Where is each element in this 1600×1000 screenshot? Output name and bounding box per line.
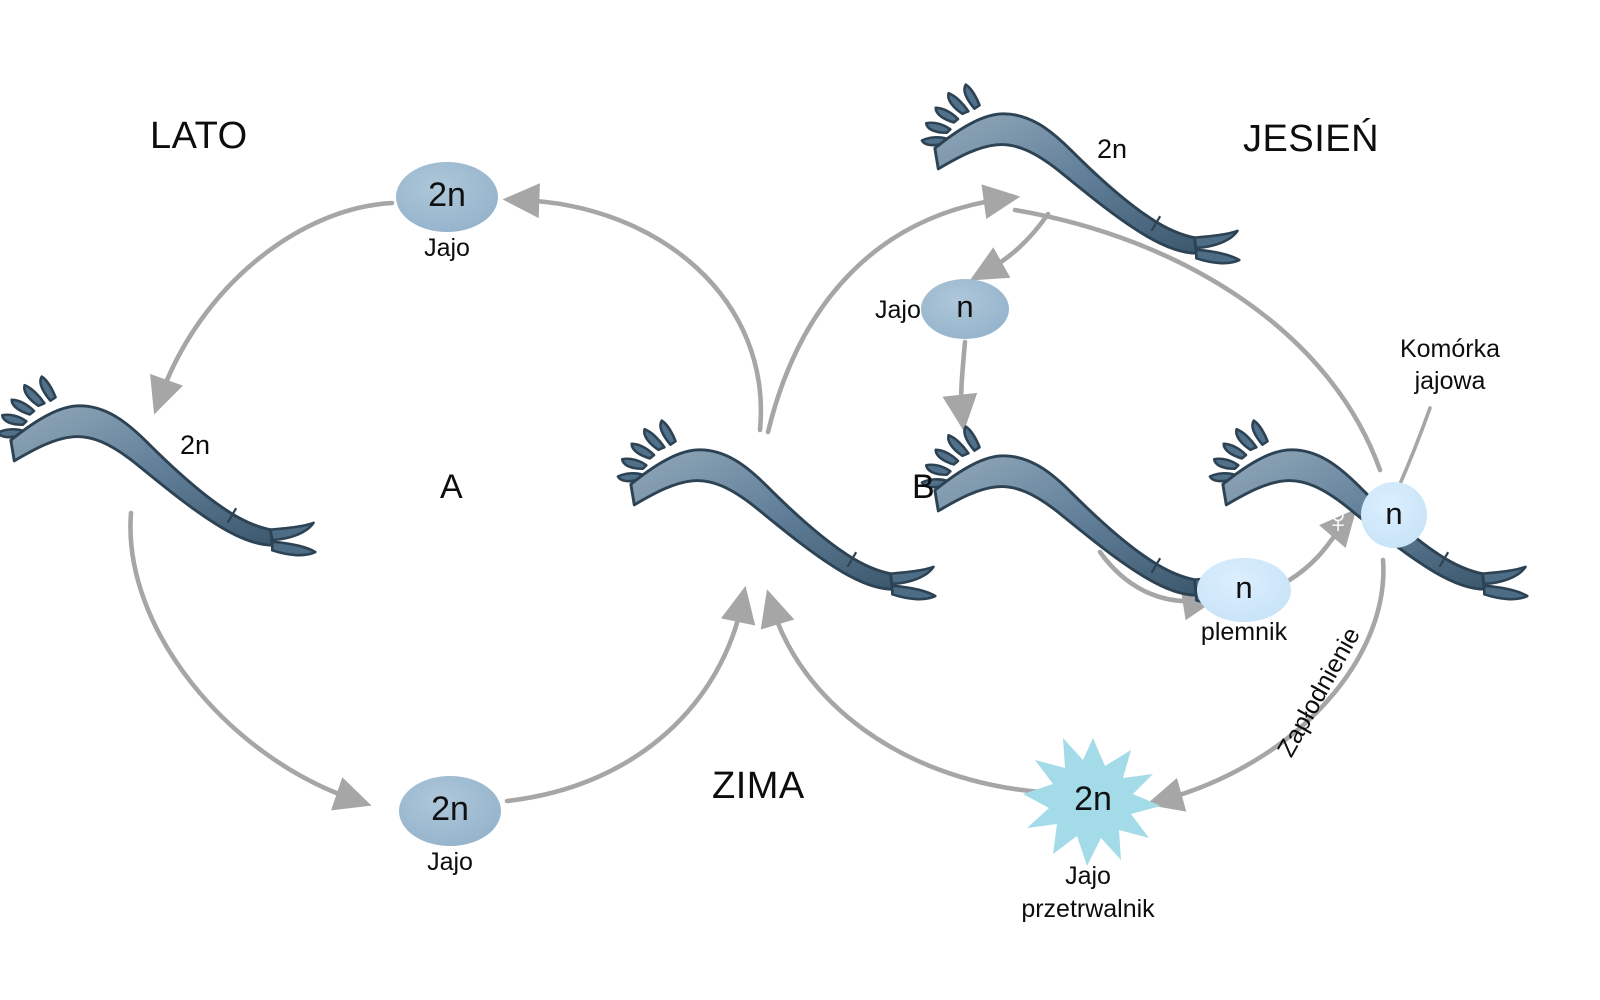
resting-egg-caption-line2: przetrwalnik bbox=[1021, 895, 1154, 923]
ovum-caption-line2: jajowa bbox=[1415, 367, 1486, 395]
season-label-autumn: JESIEŃ bbox=[1243, 118, 1379, 161]
female-symbol-center: ♀ bbox=[731, 497, 761, 541]
egg-bottom-left-ploidy: 2n bbox=[431, 790, 469, 828]
organism-female-center: ♀ bbox=[618, 421, 935, 600]
female-symbol-left: ♀ bbox=[111, 453, 141, 497]
female-symbol-right: ♀ bbox=[1323, 497, 1353, 541]
organism-female-top-right: ♀ bbox=[922, 85, 1239, 264]
organism-male-right: ♂ bbox=[922, 427, 1239, 606]
egg-haploid-ploidy: n bbox=[956, 290, 973, 325]
egg-haploid-caption: Jajo bbox=[875, 296, 921, 324]
ovum-caption-line1: Komórka bbox=[1400, 335, 1500, 363]
resting-egg-ploidy: 2n bbox=[1074, 780, 1112, 818]
resting-egg-caption-line1: Jajo bbox=[1065, 862, 1111, 890]
female-symbol-top-right: ♀ bbox=[1035, 161, 1065, 205]
season-label-summer: LATO bbox=[150, 115, 248, 158]
female-left-ploidy: 2n bbox=[180, 430, 210, 460]
life-cycle-diagram: ♀ ♀ ♀ ♂ ♀ bbox=[0, 0, 1600, 1000]
egg-top-left-ploidy: 2n bbox=[428, 176, 466, 214]
organism-female-left: ♀ bbox=[0, 377, 315, 556]
male-symbol-right: ♂ bbox=[1037, 503, 1067, 547]
season-label-winter: ZIMA bbox=[712, 765, 805, 808]
sperm-ploidy: n bbox=[1235, 571, 1252, 606]
egg-top-left-caption: Jajo bbox=[424, 234, 470, 262]
female-top-right-ploidy: 2n bbox=[1097, 134, 1127, 164]
ovum-ploidy: n bbox=[1385, 497, 1402, 532]
cycle-label-a: A bbox=[440, 468, 463, 506]
egg-bottom-left-caption: Jajo bbox=[427, 848, 473, 876]
sperm-caption: plemnik bbox=[1201, 618, 1287, 646]
cycle-label-b: B bbox=[912, 468, 935, 506]
